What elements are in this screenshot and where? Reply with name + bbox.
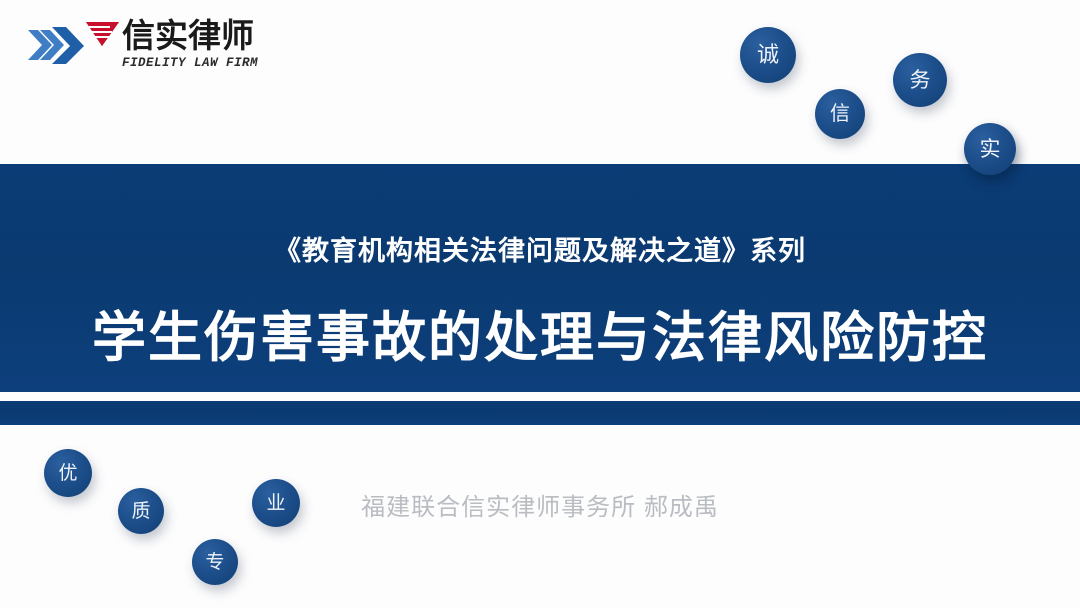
decor-circle-label: 务	[910, 70, 931, 91]
decor-circle-label: 专	[205, 553, 224, 572]
accent-bar	[0, 401, 1080, 425]
decor-circle-zhuan: 专	[192, 539, 238, 585]
decor-circle-ye: 业	[252, 479, 300, 527]
logo-chinese-name: 信实律师	[122, 17, 268, 55]
decor-circle-label: 诚	[757, 44, 779, 66]
firm-logo: 信实律师 FIDELITY LAW FIRM	[26, 16, 266, 80]
page-title: 学生伤害事故的处理与法律风险防控	[0, 293, 1080, 372]
series-subtitle: 《教育机构相关法律问题及解决之道》系列	[0, 229, 1080, 268]
decor-circle-cheng: 诚	[740, 27, 796, 83]
decor-circle-label: 实	[980, 139, 1001, 160]
logo-mark-icon	[26, 16, 120, 68]
decor-circle-xin: 信	[815, 89, 865, 139]
logo-english-name: FIDELITY LAW FIRM	[122, 56, 268, 70]
decor-circle-you: 优	[44, 449, 92, 497]
decor-circle-shi: 实	[964, 123, 1016, 175]
presentation-slide: 信实律师 FIDELITY LAW FIRM 《教育机构相关法律问题及解决之道》…	[0, 0, 1080, 608]
decor-circle-label: 信	[830, 104, 850, 124]
decor-circle-wu: 务	[893, 53, 947, 107]
decor-circle-label: 业	[266, 494, 285, 513]
decor-circle-label: 质	[131, 502, 150, 521]
decor-circle-zhi: 质	[118, 488, 164, 534]
decor-circle-label: 优	[58, 464, 77, 483]
logo-wordmark: 信实律师 FIDELITY LAW FIRM	[122, 17, 268, 70]
